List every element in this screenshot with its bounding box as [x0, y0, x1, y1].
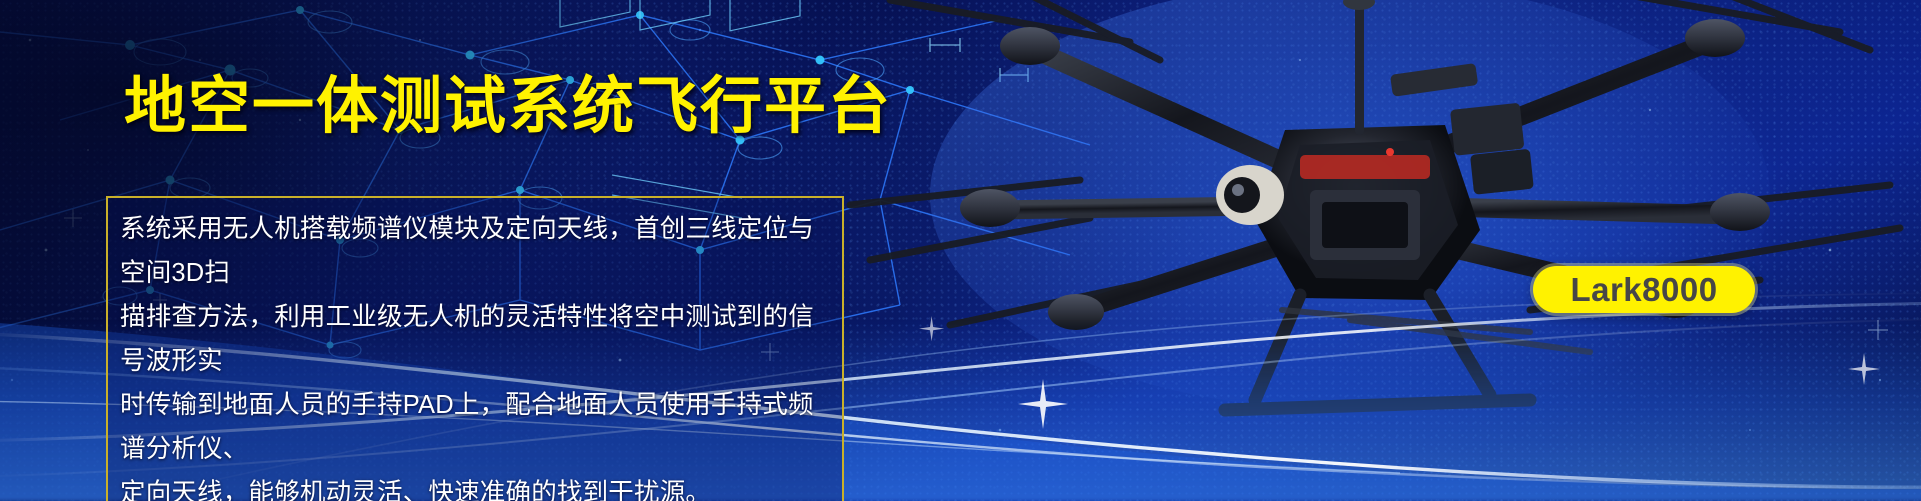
- description-line: 描排查方法，利用工业级无人机的灵活特性将空中测试到的信号波形实: [120, 295, 830, 383]
- page-title: 地空一体测试系统飞行平台: [124, 76, 892, 138]
- description-box: 系统采用无人机搭载频谱仪模块及定向天线，首创三线定位与空间3D扫 描排查方法，利…: [106, 196, 844, 501]
- description-line: 定向天线，能够机动灵活、快速准确的找到干扰源。: [120, 471, 830, 501]
- description-text: 系统采用无人机搭载频谱仪模块及定向天线，首创三线定位与空间3D扫 描排查方法，利…: [120, 207, 830, 501]
- promo-banner: 地空一体测试系统飞行平台 系统采用无人机搭载频谱仪模块及定向天线，首创三线定位与…: [0, 0, 1921, 501]
- product-badge: Lark8000: [1533, 266, 1755, 313]
- description-line: 时传输到地面人员的手持PAD上，配合地面人员使用手持式频谱分析仪、: [120, 383, 830, 471]
- product-badge-label: Lark8000: [1570, 273, 1717, 306]
- description-line: 系统采用无人机搭载频谱仪模块及定向天线，首创三线定位与空间3D扫: [120, 207, 830, 295]
